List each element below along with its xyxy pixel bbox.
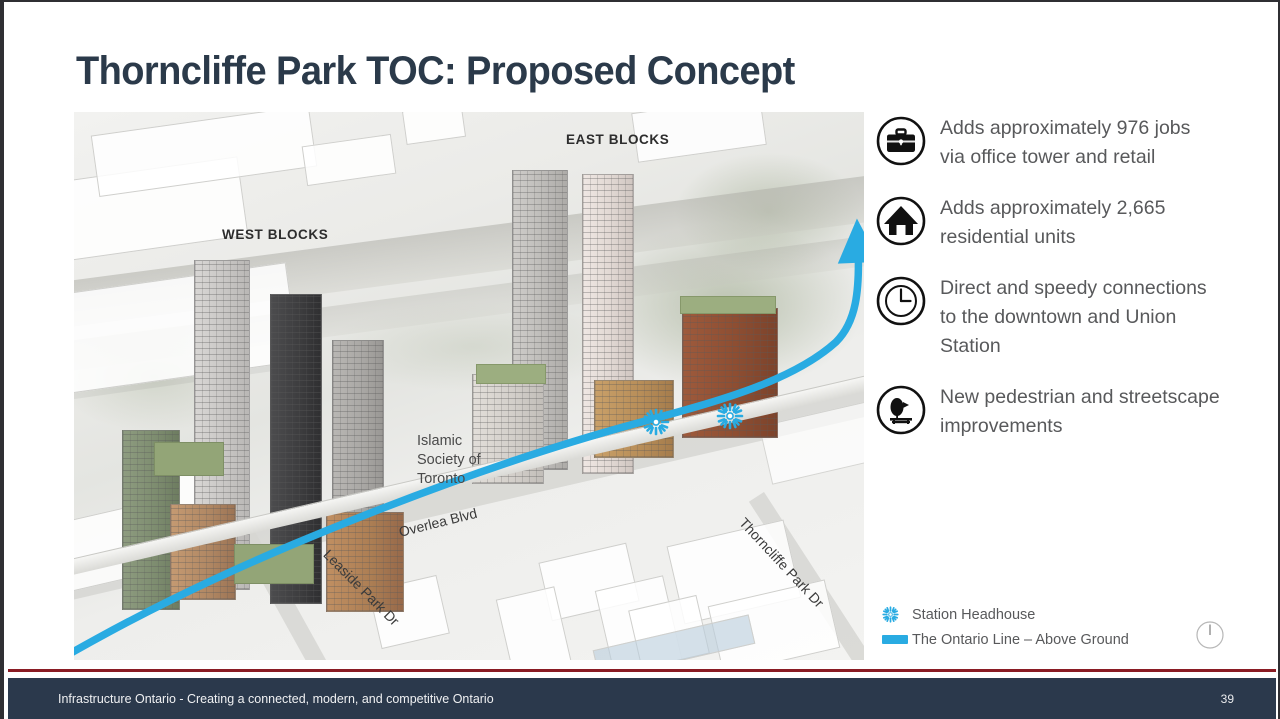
legend-label: The Ontario Line – Above Ground xyxy=(912,632,1129,648)
slide-number: 39 xyxy=(1221,692,1234,706)
aerial-rendering-panel: EAST BLOCKS WEST BLOCKS Islamic Society … xyxy=(74,112,864,660)
legend-row-ontario-line: The Ontario Line – Above Ground xyxy=(882,627,1212,652)
benefit-item-jobs: Adds approximately 976 jobs via office t… xyxy=(876,114,1220,172)
station-headhouse-starburst-icon xyxy=(642,408,670,436)
slide-footer: Infrastructure Ontario - Creating a conn… xyxy=(8,678,1276,719)
station-headhouse-marker[interactable] xyxy=(716,402,744,430)
ontario-line-alignment xyxy=(74,112,864,660)
benefit-item-text: New pedestrian and streetscape improveme… xyxy=(940,383,1220,441)
map-label-islamic-society-of-toronto: Islamic Society of Toronto xyxy=(417,432,481,489)
map-label-east-blocks: EAST BLOCKS xyxy=(566,132,669,147)
presentation-slide: Thorncliffe Park TOC: Proposed Concept xyxy=(0,0,1280,719)
station-headhouse-starburst-icon xyxy=(716,402,744,430)
blue-line-swatch xyxy=(882,635,908,644)
blue-line-swatch-icon xyxy=(882,635,912,644)
benefit-item-connections: Direct and speedy connections to the dow… xyxy=(876,274,1220,361)
benefit-item-pedestrian: New pedestrian and streetscape improveme… xyxy=(876,383,1220,441)
station-headhouse-marker[interactable] xyxy=(642,408,670,436)
park-bench-tree-icon xyxy=(876,385,926,435)
benefit-item-text: Direct and speedy connections to the dow… xyxy=(940,274,1220,361)
map-legend: Station Headhouse The Ontario Line – Abo… xyxy=(882,602,1212,652)
place-label-line: Islamic xyxy=(417,432,481,451)
clock-watermark-icon xyxy=(1195,620,1225,650)
benefit-item-text: Adds approximately 976 jobs via office t… xyxy=(940,114,1220,172)
benefits-list: Adds approximately 976 jobs via office t… xyxy=(876,114,1220,463)
clock-icon xyxy=(876,276,926,326)
house-icon xyxy=(876,196,926,246)
footer-tagline: Infrastructure Ontario - Creating a conn… xyxy=(58,691,494,706)
page-title: Thorncliffe Park TOC: Proposed Concept xyxy=(76,49,795,94)
benefit-item-text: Adds approximately 2,665 residential uni… xyxy=(940,194,1220,252)
legend-label: Station Headhouse xyxy=(912,607,1035,623)
map-label-west-blocks: WEST BLOCKS xyxy=(222,227,328,242)
footer-divider-rule xyxy=(8,668,1276,673)
place-label-line: Toronto xyxy=(417,470,481,489)
place-label-line: Society of xyxy=(417,451,481,470)
station-headhouse-starburst-icon xyxy=(882,606,912,623)
legend-row-station-headhouse: Station Headhouse xyxy=(882,602,1212,627)
benefit-item-residential: Adds approximately 2,665 residential uni… xyxy=(876,194,1220,252)
briefcase-icon xyxy=(876,116,926,166)
